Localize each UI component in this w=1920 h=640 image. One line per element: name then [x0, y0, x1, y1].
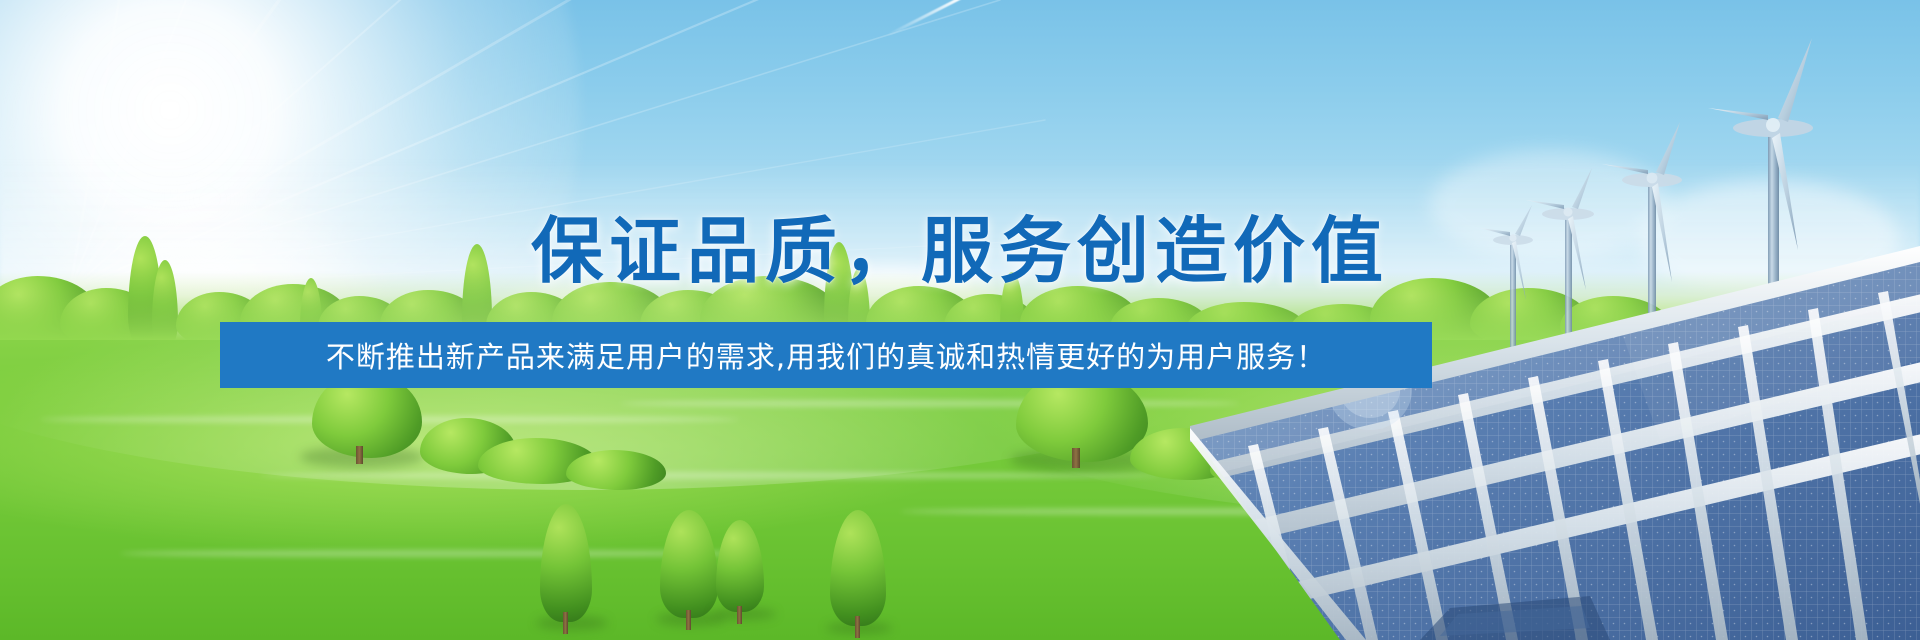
sapling	[540, 504, 592, 622]
sapling	[660, 510, 718, 618]
subtitle-text: 不断推出新产品来满足用户的需求,用我们的真诚和热情更好的为用户服务！	[326, 334, 1326, 376]
page-title: 保证品质，服务创造价值	[0, 192, 1920, 297]
promo-banner: 保证品质，服务创造价值 不断推出新产品来满足用户的需求,用我们的真诚和热情更好的…	[0, 0, 1920, 640]
subtitle-banner-bar: 不断推出新产品来满足用户的需求,用我们的真诚和热情更好的为用户服务！	[220, 322, 1432, 388]
solar-panel-array	[1190, 240, 1920, 640]
sapling	[716, 520, 764, 612]
sapling	[830, 510, 886, 626]
